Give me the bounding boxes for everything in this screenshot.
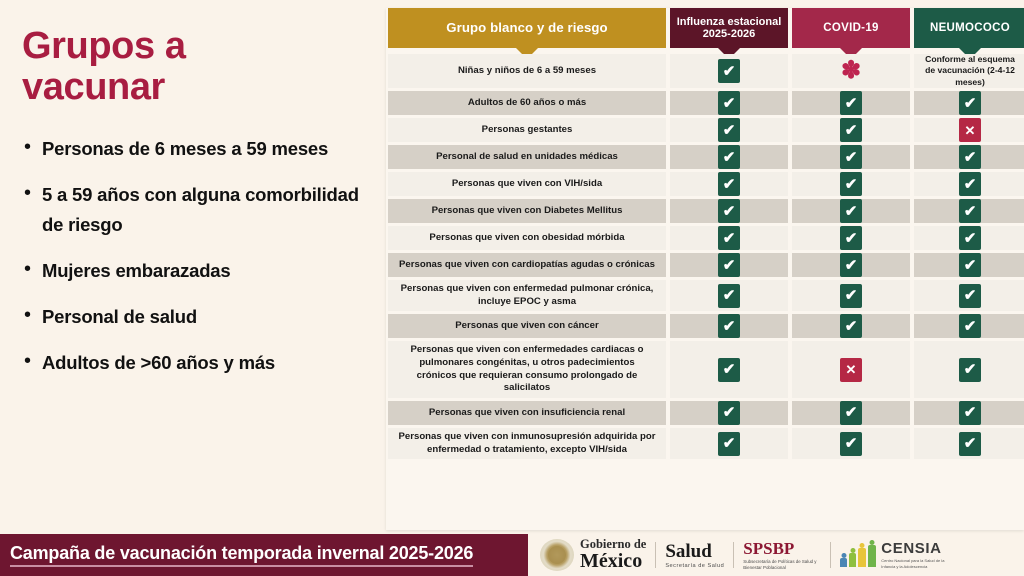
logo-divider [830,542,831,568]
table-row: Personas que viven con Diabetes Mellitus… [386,199,1024,223]
censia-title: CENSIA [881,541,955,556]
bullet-item-0: •Personas de 6 meses a 59 meses [22,134,374,164]
cell-note-text: Conforme al esquema de vacunación (2-4-1… [914,54,1024,88]
cell-influenza: ✔ [670,145,788,169]
asterisk-icon: ✽ [841,59,861,83]
cell-group-label: Personas que viven con VIH/sida [388,172,666,196]
cell-group-label: Personas que viven con insuficiencia ren… [388,401,666,425]
cell-covid: ✽ [792,54,910,88]
spsbp-logo: SPSBP Subsecretaría de Políticas de Salu… [743,540,821,571]
cell-influenza: ✔ [670,118,788,142]
cell-influenza: ✔ [670,253,788,277]
bullet-dot-icon: • [22,256,42,282]
censia-logo: CENSIA Centro Nacional para la Salud de … [840,541,955,569]
table-row: Personas que viven con obesidad mórbida✔… [386,226,1024,250]
figure-yellow-icon [858,548,866,567]
check-icon: ✔ [959,401,981,425]
campaign-banner-text: Campaña de vacunación temporada invernal… [10,543,473,567]
slide-canvas: Grupos a vacunar •Personas de 6 meses a … [0,0,1024,536]
table-body: Niñas y niños de 6 a 59 meses✔✽Conforme … [386,54,1024,462]
cell-neumococo: ✔ [914,428,1024,459]
cell-group-label: Personas que viven con enfermedad pulmon… [388,280,666,311]
cross-icon: ✕ [959,118,981,142]
cell-neumococo: ✔ [914,341,1024,398]
cell-group-label: Personas que viven con cardiopatías agud… [388,253,666,277]
cell-influenza: ✔ [670,341,788,398]
gobierno-line1: Gobierno de [580,538,646,551]
cell-covid: ✔ [792,226,910,250]
cell-neumococo: ✔ [914,314,1024,338]
check-icon: ✔ [840,314,862,338]
bullet-item-label: Adultos de >60 años y más [42,348,275,378]
table-row: Personas gestantes✔✔✕ [386,118,1024,142]
bullet-dot-icon: • [22,180,42,206]
cell-group-label: Personas que viven con obesidad mórbida [388,226,666,250]
check-icon: ✔ [840,284,862,308]
cross-icon: ✕ [840,358,862,382]
cell-neumococo: ✔ [914,91,1024,115]
cell-group-label: Personas que viven con cáncer [388,314,666,338]
spsbp-subtitle: Subsecretaría de Políticas de Salud y Bi… [743,559,821,571]
cell-covid: ✔ [792,314,910,338]
figure-blue-icon [840,558,847,567]
cell-influenza: ✔ [670,172,788,196]
column-header-grupo: Grupo blanco y de riesgo [388,8,666,48]
cell-group-label: Personas que viven con inmunosupresión a… [388,428,666,459]
table-row: Personas que viven con VIH/sida✔✔✔ [386,172,1024,196]
check-icon: ✔ [718,199,740,223]
bullet-dot-icon: • [22,134,42,160]
bullet-dot-icon: • [22,302,42,328]
check-icon: ✔ [959,284,981,308]
check-icon: ✔ [718,358,740,382]
cell-covid: ✕ [792,341,910,398]
salud-subtitle: Secretaría de Salud [665,563,724,569]
gobierno-de-mexico-logo: Gobierno de México [540,538,646,572]
check-icon: ✔ [959,432,981,456]
logo-divider [655,542,656,568]
cell-influenza: ✔ [670,428,788,459]
check-icon: ✔ [718,401,740,425]
cell-neumococo: ✔ [914,401,1024,425]
check-icon: ✔ [718,253,740,277]
cell-covid: ✔ [792,172,910,196]
cell-covid: ✔ [792,428,910,459]
cell-group-label: Personal de salud en unidades médicas [388,145,666,169]
figure-green-small-icon [849,553,856,567]
column-header-covid-label: COVID-19 [823,22,878,35]
check-icon: ✔ [718,432,740,456]
slide-footer: Campaña de vacunación temporada invernal… [0,534,1024,576]
cell-covid: ✔ [792,401,910,425]
table-row: Adultos de 60 años o más✔✔✔ [386,91,1024,115]
column-header-influenza-label: Influenza estacional 2025-2026 [674,16,784,41]
salud-title: Salud [665,542,724,561]
bullet-item-label: Mujeres embarazadas [42,256,231,286]
cell-influenza: ✔ [670,54,788,88]
table-row: Personas que viven con enfermedades card… [386,341,1024,398]
left-content-panel: Grupos a vacunar •Personas de 6 meses a … [0,0,382,536]
check-icon: ✔ [959,314,981,338]
spsbp-title: SPSBP [743,540,821,557]
bullet-dot-icon: • [22,348,42,374]
check-icon: ✔ [718,226,740,250]
check-icon: ✔ [840,172,862,196]
figure-green-large-icon [868,545,876,567]
check-icon: ✔ [959,145,981,169]
check-icon: ✔ [718,145,740,169]
check-icon: ✔ [959,172,981,196]
censia-subtitle: Centro Nacional para la Salud de la Infa… [881,558,955,569]
cell-influenza: ✔ [670,401,788,425]
mexican-eagle-seal-icon [540,539,574,571]
check-icon: ✔ [959,199,981,223]
gobierno-line2: México [580,551,646,572]
cell-neumococo: ✔ [914,172,1024,196]
check-icon: ✔ [959,226,981,250]
check-icon: ✔ [718,91,740,115]
column-header-neumococo: NEUMOCOCO [914,8,1024,48]
cell-covid: ✔ [792,91,910,115]
table-row: Personas que viven con cáncer✔✔✔ [386,314,1024,338]
column-header-neumococo-label: NEUMOCOCO [930,22,1010,35]
check-icon: ✔ [959,91,981,115]
campaign-banner: Campaña de vacunación temporada invernal… [0,534,528,576]
table-row: Personal de salud en unidades médicas✔✔✔ [386,145,1024,169]
cell-influenza: ✔ [670,91,788,115]
column-header-covid: COVID-19 [792,8,910,48]
check-icon: ✔ [718,314,740,338]
bullet-list: •Personas de 6 meses a 59 meses•5 a 59 a… [22,134,374,378]
check-icon: ✔ [718,172,740,196]
cell-influenza: ✔ [670,314,788,338]
check-icon: ✔ [959,358,981,382]
column-header-influenza: Influenza estacional 2025-2026 [670,8,788,48]
check-icon: ✔ [840,432,862,456]
bullet-item-3: •Personal de salud [22,302,374,332]
cell-neumococo: ✔ [914,145,1024,169]
cell-neumococo: ✔ [914,226,1024,250]
check-icon: ✔ [840,145,862,169]
cell-group-label: Niñas y niños de 6 a 59 meses [388,54,666,88]
check-icon: ✔ [840,199,862,223]
cell-neumococo: ✔ [914,280,1024,311]
logo-divider [733,542,734,568]
table-row: Personas que viven con inmunosupresión a… [386,428,1024,459]
bullet-item-label: Personas de 6 meses a 59 meses [42,134,328,164]
cell-covid: ✔ [792,253,910,277]
censia-figures-icon [840,543,876,567]
cell-neumococo: ✔ [914,199,1024,223]
cell-influenza: ✔ [670,199,788,223]
cell-influenza: ✔ [670,226,788,250]
bullet-item-4: •Adultos de >60 años y más [22,348,374,378]
bullet-item-label: Personal de salud [42,302,197,332]
cell-covid: ✔ [792,145,910,169]
cell-covid: ✔ [792,280,910,311]
check-icon: ✔ [840,118,862,142]
cell-group-label: Personas gestantes [388,118,666,142]
table-row: Personas que viven con enfermedad pulmon… [386,280,1024,311]
bullet-item-1: •5 a 59 años con alguna comorbilidad de … [22,180,374,240]
footer-logo-strip: Gobierno de México Salud Secretaría de S… [540,534,1024,576]
bullet-item-label: 5 a 59 años con alguna comorbilidad de r… [42,180,374,240]
cell-neumococo: ✕ [914,118,1024,142]
cell-covid: ✔ [792,118,910,142]
check-icon: ✔ [718,284,740,308]
check-icon: ✔ [840,401,862,425]
vaccination-table: Grupo blanco y de riesgo Influenza estac… [386,8,1024,530]
table-row: Niñas y niños de 6 a 59 meses✔✽Conforme … [386,54,1024,88]
page-title: Grupos a vacunar [22,26,374,108]
cell-group-label: Adultos de 60 años o más [388,91,666,115]
check-icon: ✔ [718,118,740,142]
cell-group-label: Personas que viven con enfermedades card… [388,341,666,398]
column-header-grupo-label: Grupo blanco y de riesgo [446,21,607,36]
bullet-item-2: •Mujeres embarazadas [22,256,374,286]
table-row: Personas que viven con cardiopatías agud… [386,253,1024,277]
cell-influenza: ✔ [670,280,788,311]
check-icon: ✔ [840,253,862,277]
table-header-row: Grupo blanco y de riesgo Influenza estac… [386,8,1024,52]
check-icon: ✔ [840,226,862,250]
cell-group-label: Personas que viven con Diabetes Mellitus [388,199,666,223]
check-icon: ✔ [718,59,740,83]
check-icon: ✔ [840,91,862,115]
cell-neumococo: Conforme al esquema de vacunación (2-4-1… [914,54,1024,88]
cell-neumococo: ✔ [914,253,1024,277]
cell-covid: ✔ [792,199,910,223]
check-icon: ✔ [959,253,981,277]
salud-logo: Salud Secretaría de Salud [665,542,724,569]
table-row: Personas que viven con insuficiencia ren… [386,401,1024,425]
